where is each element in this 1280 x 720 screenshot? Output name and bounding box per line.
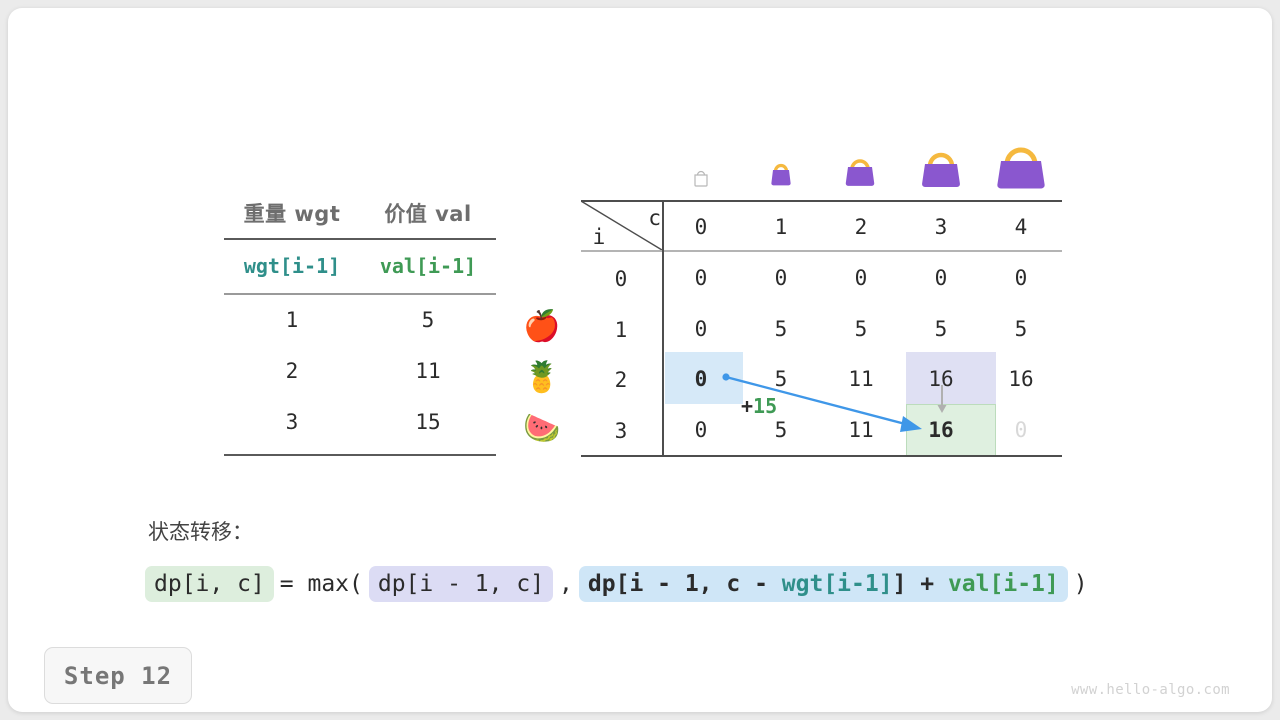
- dp-col-header-0: 0: [661, 216, 741, 238]
- dp-cell-1-3: 5: [901, 318, 981, 340]
- dp-rule-bottom: [581, 455, 1062, 457]
- items-cell-val-2: 11: [360, 359, 496, 383]
- dp-col-header-1: 1: [741, 216, 821, 238]
- dp-cell-2-4: 16: [981, 368, 1061, 390]
- formula-close-paren: ): [1069, 571, 1093, 597]
- dp-row-label-1: 1: [591, 318, 651, 342]
- transition-label: 状态转移：: [148, 516, 253, 546]
- formula-take-wgt: wgt[i-1]: [782, 571, 893, 597]
- formula-lhs: dp[i, c]: [145, 566, 274, 602]
- dp-cell-0-1: 0: [741, 267, 821, 289]
- dp-rule-top: [581, 200, 1062, 202]
- formula-option-skip: dp[i - 1, c]: [369, 566, 553, 602]
- transition-formula: dp[i, c] = max( dp[i - 1, c] , dp[i - 1,…: [144, 566, 1093, 602]
- formula-take-mid: ] +: [893, 571, 948, 597]
- dp-cell-1-4: 5: [981, 318, 1061, 340]
- items-rule-mid: [224, 293, 496, 295]
- watermark: www.hello-algo.com: [1071, 682, 1230, 698]
- items-table: 重量 wgt 价值 val wgt[i-1] val[i-1] 1 5 2 11…: [224, 198, 496, 456]
- dp-row-label-3: 3: [591, 419, 651, 443]
- dp-cell-0-0: 0: [661, 267, 741, 289]
- apple-icon: 🍎: [523, 312, 560, 342]
- dp-row-label-0: 0: [591, 267, 651, 291]
- items-subheader-wgt: wgt[i-1]: [224, 254, 360, 278]
- items-cell-val-1: 5: [360, 308, 496, 332]
- dp-cell-3-4: 0: [981, 419, 1061, 441]
- items-subheader-val: val[i-1]: [360, 254, 496, 278]
- dp-col-header-4: 4: [981, 216, 1061, 238]
- bag-icon-capacity-3: [914, 135, 968, 189]
- dp-row-label-2: 2: [591, 368, 651, 392]
- items-cell-wgt-1: 1: [224, 308, 360, 332]
- bag-icon-capacity-2: [839, 144, 881, 188]
- dp-col-header-2: 2: [821, 216, 901, 238]
- annotation-plus-sign: +: [741, 394, 753, 418]
- pineapple-icon: 🍍: [523, 363, 560, 393]
- slide-card: 重量 wgt 价值 val wgt[i-1] val[i-1] 1 5 2 11…: [8, 8, 1272, 712]
- axis-label-i: i: [579, 225, 619, 249]
- dp-cell-0-3: 0: [901, 267, 981, 289]
- items-header-wgt: 重量 wgt: [224, 198, 360, 228]
- dp-rule-header: [581, 250, 1062, 252]
- bag-icon-capacity-0: [687, 163, 715, 189]
- dp-cell-1-2: 5: [821, 318, 901, 340]
- items-cell-wgt-3: 3: [224, 410, 360, 434]
- formula-take-val: val[i-1]: [948, 571, 1059, 597]
- formula-operator: = max(: [275, 571, 368, 597]
- formula-take-prefix: dp[i - 1, c -: [588, 571, 782, 597]
- dp-cell-0-2: 0: [821, 267, 901, 289]
- watermelon-icon: 🍉: [523, 414, 560, 444]
- dp-cell-0-4: 0: [981, 267, 1061, 289]
- annotation-plus-value: 15: [753, 394, 777, 418]
- bag-icon-capacity-1: [765, 151, 797, 187]
- dp-col-header-3: 3: [901, 216, 981, 238]
- formula-comma: ,: [554, 571, 578, 597]
- items-header-val: 价值 val: [360, 198, 496, 228]
- annotation-plus-15: +15: [741, 394, 777, 418]
- dp-cell-1-0: 0: [661, 318, 741, 340]
- items-rule-top: [224, 238, 496, 240]
- items-rule-bottom: [224, 454, 496, 456]
- step-badge: Step 12: [44, 647, 192, 704]
- formula-option-take: dp[i - 1, c - wgt[i-1]] + val[i-1]: [579, 566, 1068, 602]
- items-cell-wgt-2: 2: [224, 359, 360, 383]
- items-cell-val-3: 15: [360, 410, 496, 434]
- bag-icon-capacity-4: [988, 126, 1054, 190]
- dp-cell-1-1: 5: [741, 318, 821, 340]
